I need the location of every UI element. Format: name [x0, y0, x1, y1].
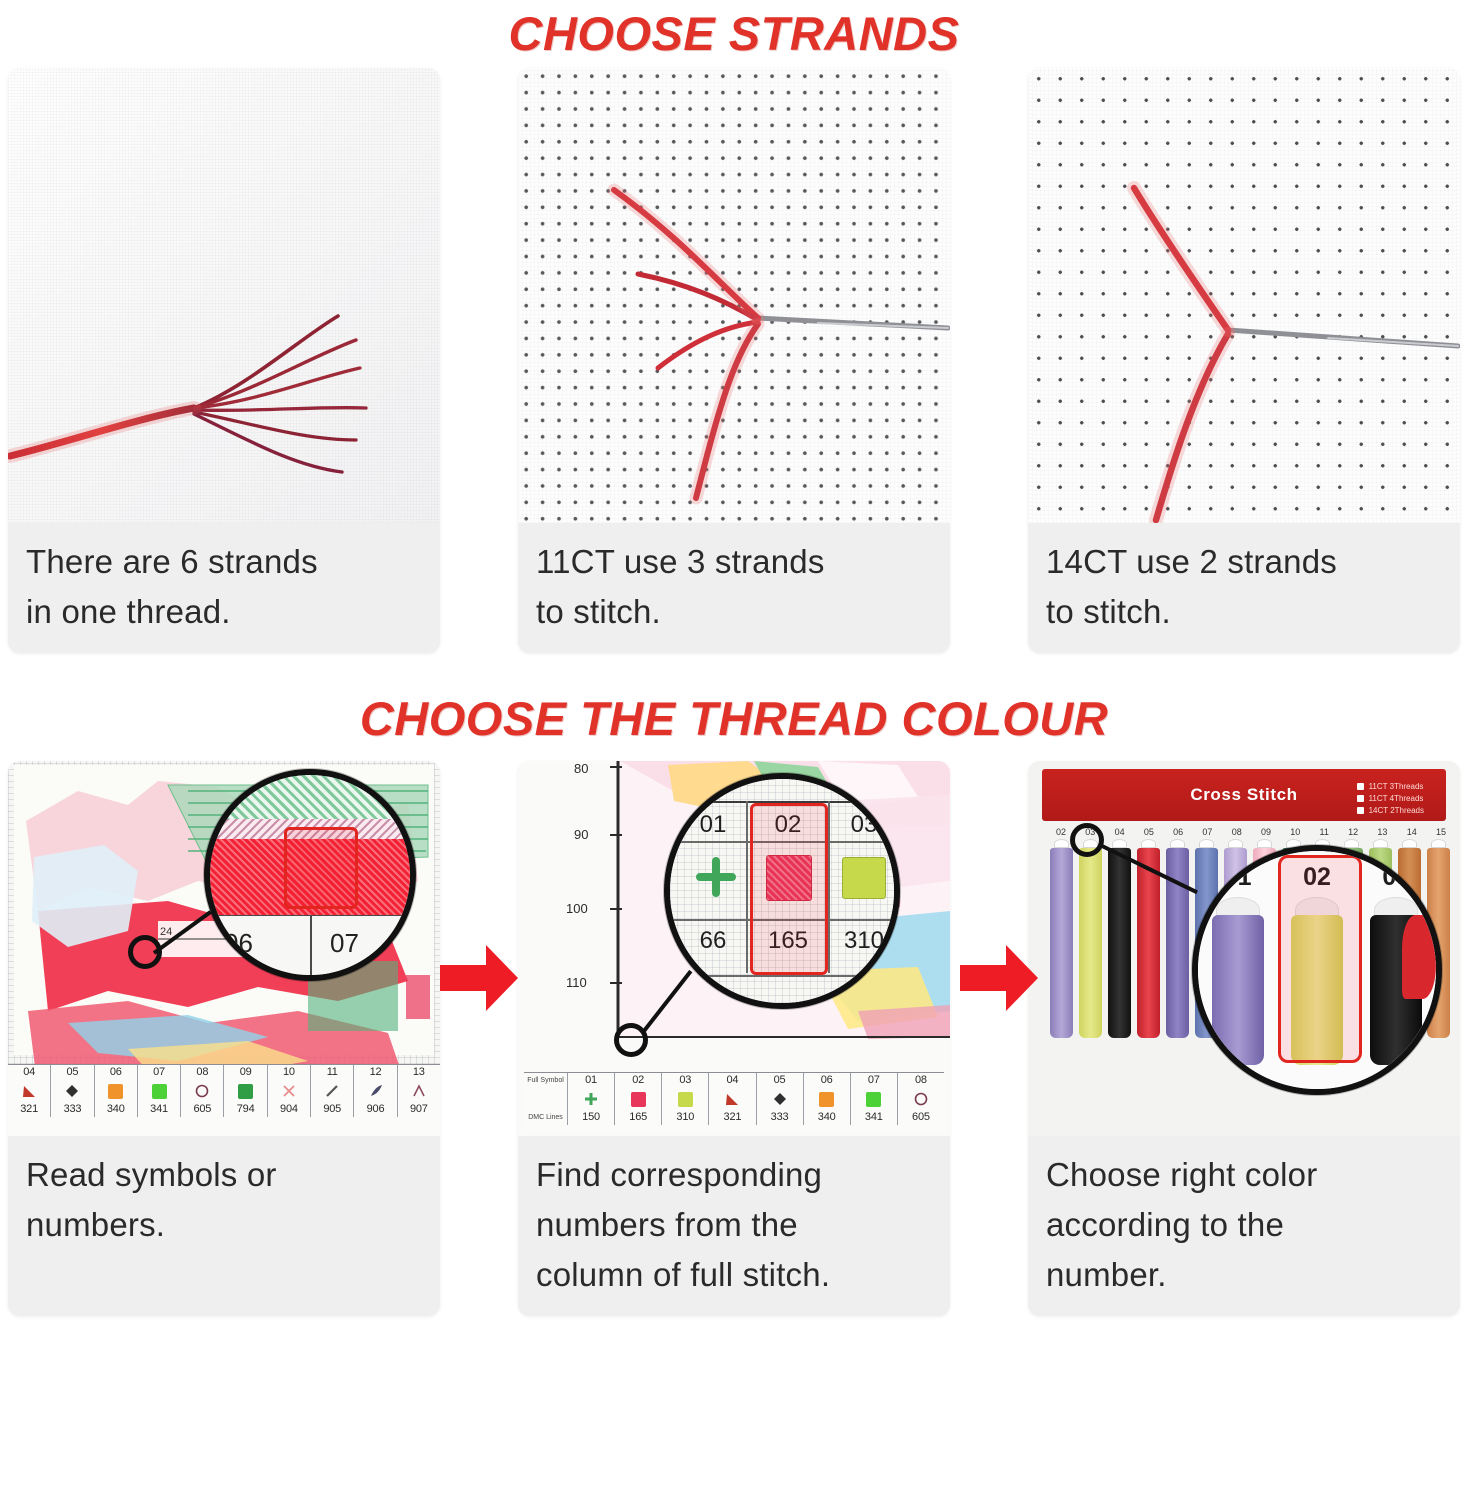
checklist-label: 11CT 4Threads: [1369, 794, 1424, 803]
legend-cell: 341: [851, 1110, 898, 1125]
legend-cell: [8, 1080, 51, 1102]
banner-title: Cross Stitch: [1190, 785, 1297, 805]
legend-cell: 906: [354, 1102, 397, 1117]
slot-number: 15: [1436, 827, 1446, 837]
legend-number: 07: [868, 1074, 880, 1086]
legend-cell: [181, 1080, 224, 1102]
caption-six-strands: There are 6 strands in one thread.: [8, 523, 440, 653]
zoom-cell-label: 06: [224, 928, 253, 959]
magnifier-column-zoom: 01 66 02 165 03 310: [664, 773, 900, 1009]
legend-cell: [224, 1080, 267, 1102]
legend-cell: 05: [757, 1073, 804, 1088]
axis-label: 90: [574, 827, 588, 842]
legend-code: 907: [410, 1103, 428, 1115]
card-find-numbers: 80 90 100 110: [518, 761, 950, 1316]
pattern-legend-table: 04 05 06 07 08 09 10 11 12 13: [8, 1064, 440, 1136]
needle-and-strands-illustration: [1028, 68, 1460, 523]
legend-cell: [568, 1088, 615, 1110]
legend-code: 310: [676, 1111, 694, 1123]
symbol-square-icon: [851, 1088, 897, 1110]
legend-cell: [268, 1080, 311, 1102]
slot-number: 06: [1173, 827, 1183, 837]
legend-cell: [757, 1088, 804, 1110]
legend-number: 09: [240, 1066, 252, 1078]
slot-number: 05: [1144, 827, 1154, 837]
card-14ct-two-strands: 14CT use 2 strands to stitch.: [1028, 68, 1460, 653]
skein-hole: [1112, 839, 1127, 848]
photo-two-strands-on-aida-14ct: [1028, 68, 1460, 523]
legend-cell: 340: [95, 1102, 138, 1117]
caption-line: column of full stitch.: [536, 1250, 932, 1300]
axis-label: 80: [574, 761, 588, 776]
legend-code: 340: [107, 1103, 125, 1115]
legend-cell: 605: [898, 1110, 944, 1125]
thread-strands-illustration: [8, 68, 440, 523]
caption-line: numbers.: [26, 1200, 422, 1250]
skein-hole: [1141, 839, 1156, 848]
legend-number: 06: [821, 1074, 833, 1086]
caption-line: to stitch.: [1046, 587, 1442, 637]
zoom-highlight-rectangle: [1278, 855, 1362, 1063]
legend-code: 333: [771, 1111, 789, 1123]
symbol-cross-icon: [568, 1088, 614, 1110]
caption-line: 11CT use 3 strands: [536, 537, 932, 587]
caption-line: Read symbols or: [26, 1150, 422, 1200]
caption-line: according to the: [1046, 1200, 1442, 1250]
legend-cell: 794: [224, 1102, 267, 1117]
caption-choose-color: Choose right color according to the numb…: [1028, 1136, 1460, 1316]
legend-cell: [615, 1088, 662, 1110]
zoom-color-code: 66: [680, 927, 746, 955]
zoom-red-thread-edge: [1402, 915, 1436, 999]
card-read-symbols: 24 06 07: [8, 761, 440, 1316]
thread-skein: [1050, 839, 1073, 1038]
magnifier-pattern-zoom: 06 07: [204, 769, 416, 981]
zoom-cell-label: 07: [330, 928, 359, 959]
card-11ct-three-strands: 11CT use 3 strands to stitch.: [518, 68, 950, 653]
legend-number: 03: [679, 1074, 691, 1086]
skein-hole: [1344, 839, 1359, 848]
slot-number: 11: [1320, 827, 1329, 837]
legend-number: 05: [774, 1074, 786, 1086]
symbol-diamond-icon: [51, 1080, 93, 1102]
symbol-caret-icon: [398, 1080, 440, 1102]
legend-code: 906: [367, 1103, 385, 1115]
photo-pattern-column-legend: 80 90 100 110: [518, 761, 950, 1136]
caption-line: There are 6 strands: [26, 537, 422, 587]
legend-cell: 907: [398, 1102, 440, 1117]
axis-label: 100: [566, 901, 588, 916]
zoom-legend-band: 06 07: [210, 915, 410, 975]
caption-14ct: 14CT use 2 strands to stitch.: [1028, 523, 1460, 653]
photo-three-strands-on-aida-11ct: [518, 68, 950, 523]
skein-hole: [1402, 839, 1417, 848]
card-six-strands: There are 6 strands in one thread.: [8, 68, 440, 653]
checkbox-icon: [1357, 783, 1364, 790]
legend-cell: 11: [311, 1065, 354, 1080]
page-title-choose-thread-colour: CHOOSE THE THREAD COLOUR: [0, 687, 1468, 747]
checkbox-icon: [1357, 795, 1364, 802]
legend-cell: [898, 1088, 944, 1110]
legend-cell: 04: [8, 1065, 51, 1080]
legend-cell: 07: [138, 1065, 181, 1080]
caption-find-numbers: Find corresponding numbers from the colu…: [518, 1136, 950, 1316]
zoom-highlight-rectangle: [284, 827, 358, 909]
legend-cell: 341: [138, 1102, 181, 1117]
caption-line: numbers from the: [536, 1200, 932, 1250]
magnifier-focus-dot: [128, 935, 162, 969]
zoom-thread-slot: 01: [1198, 851, 1277, 1089]
legend-cell: 340: [804, 1110, 851, 1125]
slot-number: 07: [1202, 827, 1212, 837]
page-title-choose-strands: CHOOSE STRANDS: [0, 0, 1468, 62]
legend-code: 333: [64, 1103, 82, 1115]
symbol-square-icon: [224, 1080, 266, 1102]
symbol-circle-icon: [898, 1088, 944, 1110]
legend-cell: 10: [268, 1065, 311, 1080]
legend-number: 11: [327, 1066, 338, 1078]
legend-cell: [354, 1080, 397, 1102]
caption-line: Find corresponding: [536, 1150, 932, 1200]
legend-cell: [662, 1088, 709, 1110]
legend-cell: [138, 1080, 181, 1102]
skein-hole: [1431, 839, 1446, 848]
legend-code: 341: [865, 1111, 883, 1123]
legend-cell: 321: [709, 1110, 756, 1125]
magnifier-thread-zoom: 01 02 03: [1192, 845, 1442, 1095]
legend-code: 341: [150, 1103, 168, 1115]
checkbox-icon: [1357, 807, 1364, 814]
zoom-color-code: 310: [832, 927, 896, 955]
arrow-right-icon: [440, 941, 518, 1015]
symbol-triangle-icon: [8, 1080, 50, 1102]
legend-code-row: DMC Lines 150 165 310 321 333 340 341 60…: [524, 1110, 944, 1125]
caption-line: Choose right color: [1046, 1150, 1442, 1200]
legend-code: 605: [912, 1111, 930, 1123]
skein-hole: [1257, 839, 1272, 848]
legend-code: 321: [724, 1111, 742, 1123]
photo-thread-card: Cross Stitch 11CT 3Threads 11CT 4Threads: [1028, 761, 1460, 1136]
symbol-cross-icon: [268, 1080, 310, 1102]
zoom-slot-number: 01: [1198, 863, 1277, 892]
legend-row-label-spacer: [524, 1088, 568, 1110]
zoom-slot-number: 03: [1357, 863, 1436, 892]
legend-row-label: Full Symbol: [524, 1073, 568, 1088]
legend-cell: 150: [568, 1110, 615, 1125]
slot-number: 14: [1407, 827, 1417, 837]
symbol-slash-icon: [311, 1080, 353, 1102]
magnifier-focus-dot: [614, 1023, 648, 1057]
caption-11ct: 11CT use 3 strands to stitch.: [518, 523, 950, 653]
infographic-page: CHOOSE STRANDS: [0, 0, 1468, 1500]
legend-cell: [51, 1080, 94, 1102]
axis-label: 110: [566, 975, 587, 990]
legend-cell: 08: [898, 1073, 944, 1088]
legend-number: 12: [370, 1066, 382, 1078]
legend-code: 904: [280, 1103, 298, 1115]
skein-hole: [1199, 839, 1214, 848]
legend-cell: 12: [354, 1065, 397, 1080]
legend-code: 150: [582, 1111, 600, 1123]
caption-line: number.: [1046, 1250, 1442, 1300]
card-choose-color: Cross Stitch 11CT 3Threads 11CT 4Threads: [1028, 761, 1460, 1316]
zoom-thread-bundle: [1212, 915, 1264, 1065]
skein-hole: [1170, 839, 1185, 848]
thread-skein: [1079, 839, 1102, 1038]
symbol-leaf-icon: [354, 1080, 396, 1102]
legend-cell: 605: [181, 1102, 224, 1117]
legend-cell: 06: [95, 1065, 138, 1080]
legend-cell: 904: [268, 1102, 311, 1117]
legend-code: 794: [237, 1103, 255, 1115]
legend-number-row: 04 05 06 07 08 09 10 11 12 13: [8, 1065, 440, 1080]
legend-cell: 333: [757, 1110, 804, 1125]
symbol-square-icon: [615, 1088, 661, 1110]
legend-code: 905: [323, 1103, 341, 1115]
thread-slot-numbers: 02 03 04 05 06 07 08 09 10 11 12 13 14 1…: [1056, 827, 1446, 837]
checklist-label: 11CT 3Threads: [1369, 782, 1424, 791]
legend-symbol-row: [8, 1080, 440, 1102]
legend-cell: [311, 1080, 354, 1102]
legend-number: 04: [727, 1074, 739, 1086]
arrow-right-icon: [960, 941, 1038, 1015]
legend-code: 340: [818, 1111, 836, 1123]
checklist-item: 14CT 2Threads: [1357, 806, 1424, 815]
symbol-triangle-icon: [709, 1088, 755, 1110]
legend-code: 605: [193, 1103, 211, 1115]
slot-number: 13: [1377, 827, 1387, 837]
legend-number: 13: [413, 1066, 425, 1078]
legend-number: 08: [196, 1066, 208, 1078]
legend-row-label-top: Full Symbol: [527, 1077, 564, 1084]
legend-row-label-bottom: DMC Lines: [528, 1114, 563, 1121]
legend-number: 08: [915, 1074, 927, 1086]
magnifier-focus-dot: [1070, 823, 1104, 857]
slot-number: 12: [1348, 827, 1358, 837]
legend-code: 165: [629, 1111, 647, 1123]
thread-card-banner: Cross Stitch 11CT 3Threads 11CT 4Threads: [1042, 769, 1446, 821]
slot-number: 09: [1261, 827, 1271, 837]
legend-cell: 165: [615, 1110, 662, 1125]
legend-cell: 09: [224, 1065, 267, 1080]
symbol-square-icon: [138, 1080, 180, 1102]
zoom-column-number: 01: [680, 811, 746, 839]
banner-checklist: 11CT 3Threads 11CT 4Threads 14CT 2Thread…: [1357, 782, 1424, 815]
legend-cell: 310: [662, 1110, 709, 1125]
legend-cell: [804, 1088, 851, 1110]
legend-row-label: DMC Lines: [524, 1110, 568, 1125]
legend-cell: 06: [804, 1073, 851, 1088]
caption-line: 14CT use 2 strands: [1046, 537, 1442, 587]
legend-cell: 321: [8, 1102, 51, 1117]
skein-hole: [1373, 839, 1388, 848]
legend-number: 01: [585, 1074, 597, 1086]
row-choose-thread-colour: 24 06 07: [0, 761, 1468, 1316]
needle-and-strands-illustration: [518, 68, 950, 523]
zoom-highlight-rectangle: [750, 803, 828, 975]
slot-number: 02: [1056, 827, 1066, 837]
legend-cell: 05: [51, 1065, 94, 1080]
thread-skein: [1108, 839, 1131, 1038]
legend-code: 321: [20, 1103, 38, 1115]
row-choose-strands: There are 6 strands in one thread.: [0, 68, 1468, 653]
zoom-cross-symbol-icon: [694, 855, 738, 899]
caption-line: in one thread.: [26, 587, 422, 637]
legend-cell: 13: [398, 1065, 440, 1080]
photo-six-strands-on-white-fabric: [8, 68, 440, 523]
legend-cell: 03: [662, 1073, 709, 1088]
legend-code-row: 321 333 340 341 605 794 904 905 906 907: [8, 1102, 440, 1117]
symbol-circle-icon: [181, 1080, 223, 1102]
zoom-column-number: 03: [832, 811, 896, 839]
legend-number: 06: [110, 1066, 122, 1078]
legend-number: 05: [67, 1066, 79, 1078]
svg-text:24: 24: [160, 926, 172, 938]
photo-pattern-chart: 24 06 07: [8, 761, 440, 1136]
caption-read-symbols: Read symbols or numbers.: [8, 1136, 440, 1266]
checklist-item: 11CT 3Threads: [1357, 782, 1424, 791]
checklist-label: 14CT 2Threads: [1369, 806, 1424, 815]
symbol-square-icon: [804, 1088, 850, 1110]
legend-symbol-row: [524, 1088, 944, 1110]
legend-cell: [398, 1080, 440, 1102]
legend-number: 07: [153, 1066, 165, 1078]
legend-cell: 905: [311, 1102, 354, 1117]
legend-number: 04: [23, 1066, 35, 1078]
legend-cell: 08: [181, 1065, 224, 1080]
slot-number: 04: [1115, 827, 1125, 837]
skein-hole: [1228, 839, 1243, 848]
legend-cell: 07: [851, 1073, 898, 1088]
slot-number: 10: [1290, 827, 1300, 837]
legend-cell: [95, 1080, 138, 1102]
zoom-green-swatch: [842, 857, 886, 899]
slot-number: 08: [1232, 827, 1242, 837]
legend-cell: [851, 1088, 898, 1110]
legend-cell: 02: [615, 1073, 662, 1088]
legend-number: 10: [283, 1066, 295, 1078]
skein-hole: [1054, 839, 1069, 848]
checklist-item: 11CT 4Threads: [1357, 794, 1424, 803]
legend-number-row: Full Symbol 01 02 03 04 05 06 07 08: [524, 1073, 944, 1088]
legend-cell: [709, 1088, 756, 1110]
caption-line: to stitch.: [536, 587, 932, 637]
symbol-square-icon: [95, 1080, 137, 1102]
symbol-diamond-icon: [757, 1088, 803, 1110]
legend-cell: 04: [709, 1073, 756, 1088]
thread-skein: [1166, 839, 1189, 1038]
legend-cell: 01: [568, 1073, 615, 1088]
pattern-legend-table: Full Symbol 01 02 03 04 05 06 07 08: [524, 1072, 944, 1130]
legend-number: 02: [632, 1074, 644, 1086]
symbol-square-icon: [662, 1088, 708, 1110]
legend-cell: 333: [51, 1102, 94, 1117]
